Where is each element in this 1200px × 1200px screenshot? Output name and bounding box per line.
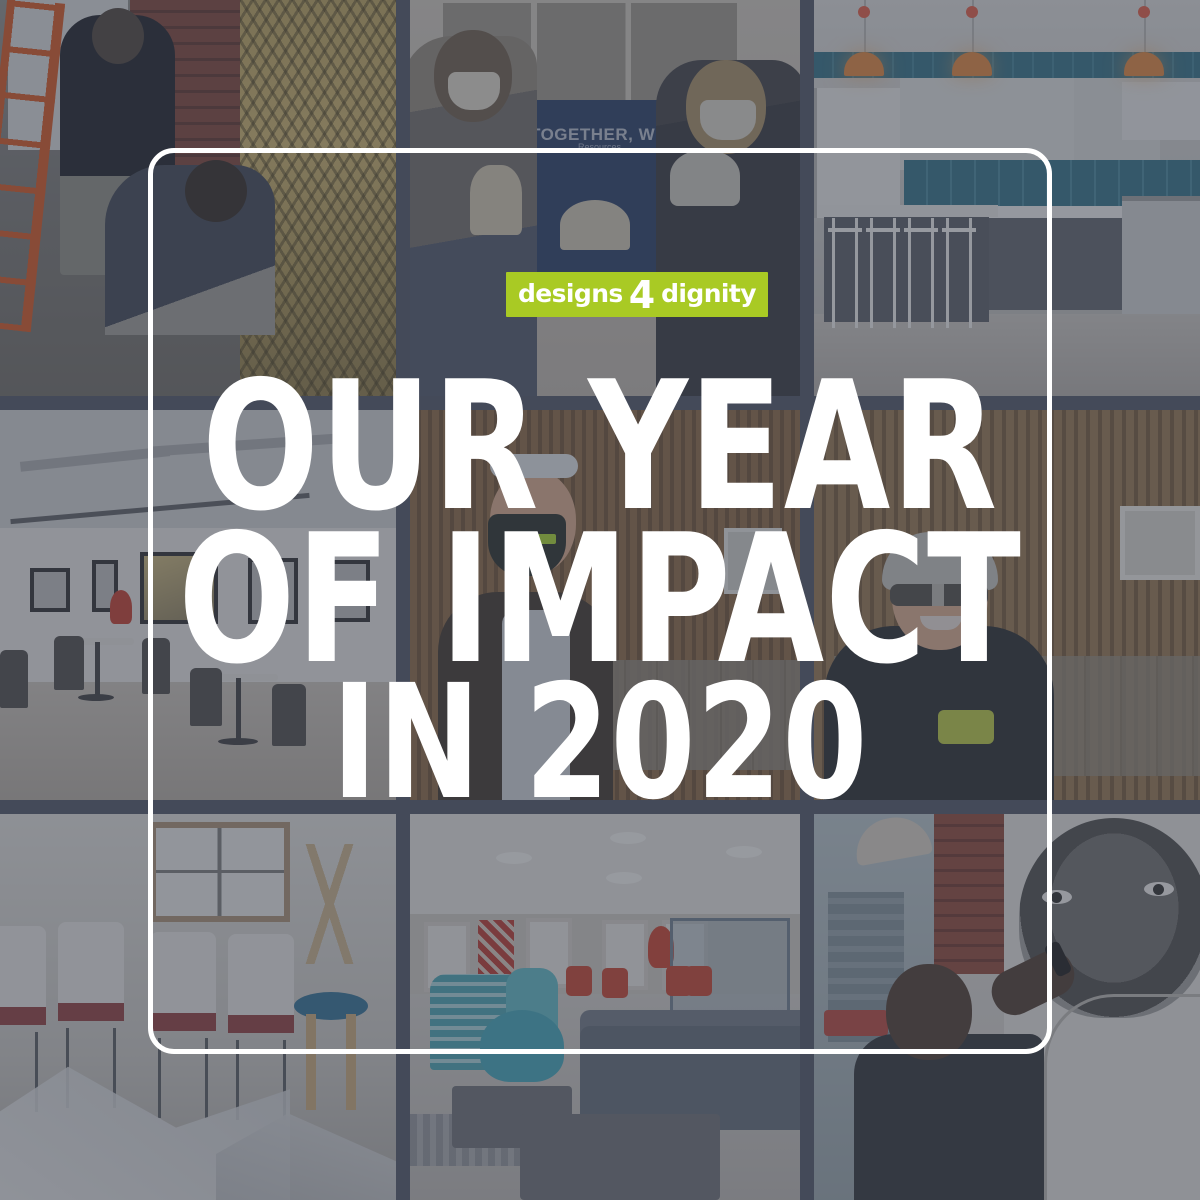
mlk-mural-artist-photo <box>814 814 1200 1200</box>
collage-photo-top-right <box>814 0 1200 396</box>
banner-text-line2: Resources <box>578 142 621 152</box>
page-title: OUR YEAR OF IMPACT IN 2020 <box>0 370 1200 812</box>
mask-donation-photo: TOGETHER, WE'RE BETTER. Resources <box>410 0 800 396</box>
collage-photo-bottom-left <box>0 814 396 1200</box>
logo-numeral-four: 4 <box>629 280 655 311</box>
collage-photo-top-center: TOGETHER, WE'RE BETTER. Resources <box>410 0 800 396</box>
warehouse-storage-photo <box>0 814 396 1200</box>
collage-photo-bottom-right <box>814 814 1200 1200</box>
poster-canvas: TOGETHER, WE'RE BETTER. Resources <box>0 0 1200 1200</box>
logo-word-designs: designs <box>518 281 623 306</box>
community-lounge-photo <box>410 814 800 1200</box>
designs4dignity-logo: designs 4 dignity <box>506 272 768 317</box>
modern-kitchen-photo <box>814 0 1200 396</box>
logo-word-dignity: dignity <box>661 281 756 306</box>
mural-painting-photo <box>0 0 396 396</box>
collage-photo-bottom-center <box>410 814 800 1200</box>
headline-line-3: IN 2020 <box>84 676 1116 812</box>
collage-photo-top-left <box>0 0 396 396</box>
